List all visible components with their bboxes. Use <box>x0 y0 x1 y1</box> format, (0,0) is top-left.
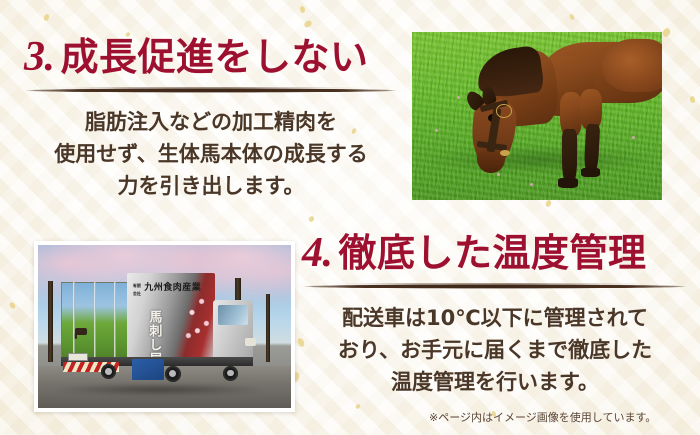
truck-company-prefix-line2: 会社 <box>133 292 141 296</box>
section-3-body-line: 使用せず、生体馬本体の成長する <box>24 138 398 170</box>
section-3-number: 3. <box>24 33 55 81</box>
grazing-horse <box>412 32 662 200</box>
truck-wheel-mid <box>165 366 181 382</box>
horse-halter-buckle <box>500 150 510 157</box>
horse-hindquarter <box>602 39 662 93</box>
horse-photo-inner <box>412 32 662 200</box>
truck-company-prefix-line1: 有限 <box>133 284 141 288</box>
truck-rear-bar <box>94 282 96 359</box>
horse-foreleg-lower <box>583 124 599 173</box>
section-4-heading: 徹底した温度管理 <box>339 222 647 277</box>
confetti-fleck <box>8 301 16 310</box>
section-3-divider <box>24 87 398 94</box>
tree-trunk <box>266 294 270 362</box>
section-3-body: 脂肪注入などの加工精肉を 使用せず、生体馬本体の成長する 力を引き出します。 <box>24 106 398 202</box>
horse-hoof <box>581 168 600 177</box>
section-3-body-line: 脂肪注入などの加工精肉を <box>24 106 398 138</box>
truck-wheel-front <box>223 366 238 381</box>
confetti-fleck <box>545 199 552 207</box>
section-4: 4. 徹底した温度管理 配送車は10℃以下に管理されて おり、お手元に届くまで徹… <box>302 222 688 398</box>
confetti-fleck <box>355 403 361 409</box>
tree-trunk <box>48 281 53 363</box>
truck-ground-shadow <box>58 384 260 395</box>
section-4-body-line: 温度管理を行います。 <box>302 366 688 398</box>
horse-photo <box>412 32 662 200</box>
footnote: ※ページ内はイメージ画像を使用しています。 <box>429 409 656 425</box>
section-4-body-line: 配送車は10℃以下に管理されて <box>302 302 688 334</box>
section-4-heading-row: 4. 徹底した温度管理 <box>302 222 688 277</box>
section-3-body-line: 力を引き出します。 <box>24 170 398 202</box>
confetti-fleck <box>689 95 696 103</box>
truck-photo: 有限 会社 九州食肉産業 馬刺し屋 <box>34 241 295 412</box>
horse-halter-ring <box>496 104 512 118</box>
truck-headlight <box>245 338 255 346</box>
truck-photo-inner: 有限 会社 九州食肉産業 馬刺し屋 <box>38 245 291 408</box>
section-4-body-line: おり、お手元に届くまで徹底した <box>302 334 688 366</box>
truck-graphic-horse <box>75 328 87 335</box>
confetti-fleck <box>299 6 305 14</box>
horse-foreleg-lower <box>562 129 577 183</box>
section-4-divider <box>302 283 688 290</box>
confetti-fleck <box>662 27 672 38</box>
section-4-body: 配送車は10℃以下に管理されて おり、お手元に届くまで徹底した 温度管理を行いま… <box>302 302 688 398</box>
truck-sakura-graphic <box>183 288 213 349</box>
section-3: 3. 成長促進をしない 脂肪注入などの加工精肉を 使用せず、生体馬本体の成長する… <box>24 26 398 202</box>
truck-side-storage-box <box>132 359 165 380</box>
confetti-fleck <box>43 13 50 21</box>
truck-rear-bar <box>114 282 116 359</box>
truck-rear-bar <box>73 282 75 359</box>
truck-rear-panel <box>61 282 131 361</box>
section-4-number: 4. <box>302 229 333 277</box>
section-3-heading: 成長促進をしない <box>61 26 369 81</box>
confetti-fleck <box>569 13 576 20</box>
truck-licence-plate <box>68 353 88 362</box>
truck-company-name: 九州食肉産業 <box>144 284 201 293</box>
truck-windshield <box>218 305 248 325</box>
promo-page: 3. 成長促進をしない 脂肪注入などの加工精肉を 使用せず、生体馬本体の成長する… <box>0 0 700 435</box>
horse-hoof <box>558 178 578 188</box>
section-3-heading-row: 3. 成長促進をしない <box>24 26 398 81</box>
